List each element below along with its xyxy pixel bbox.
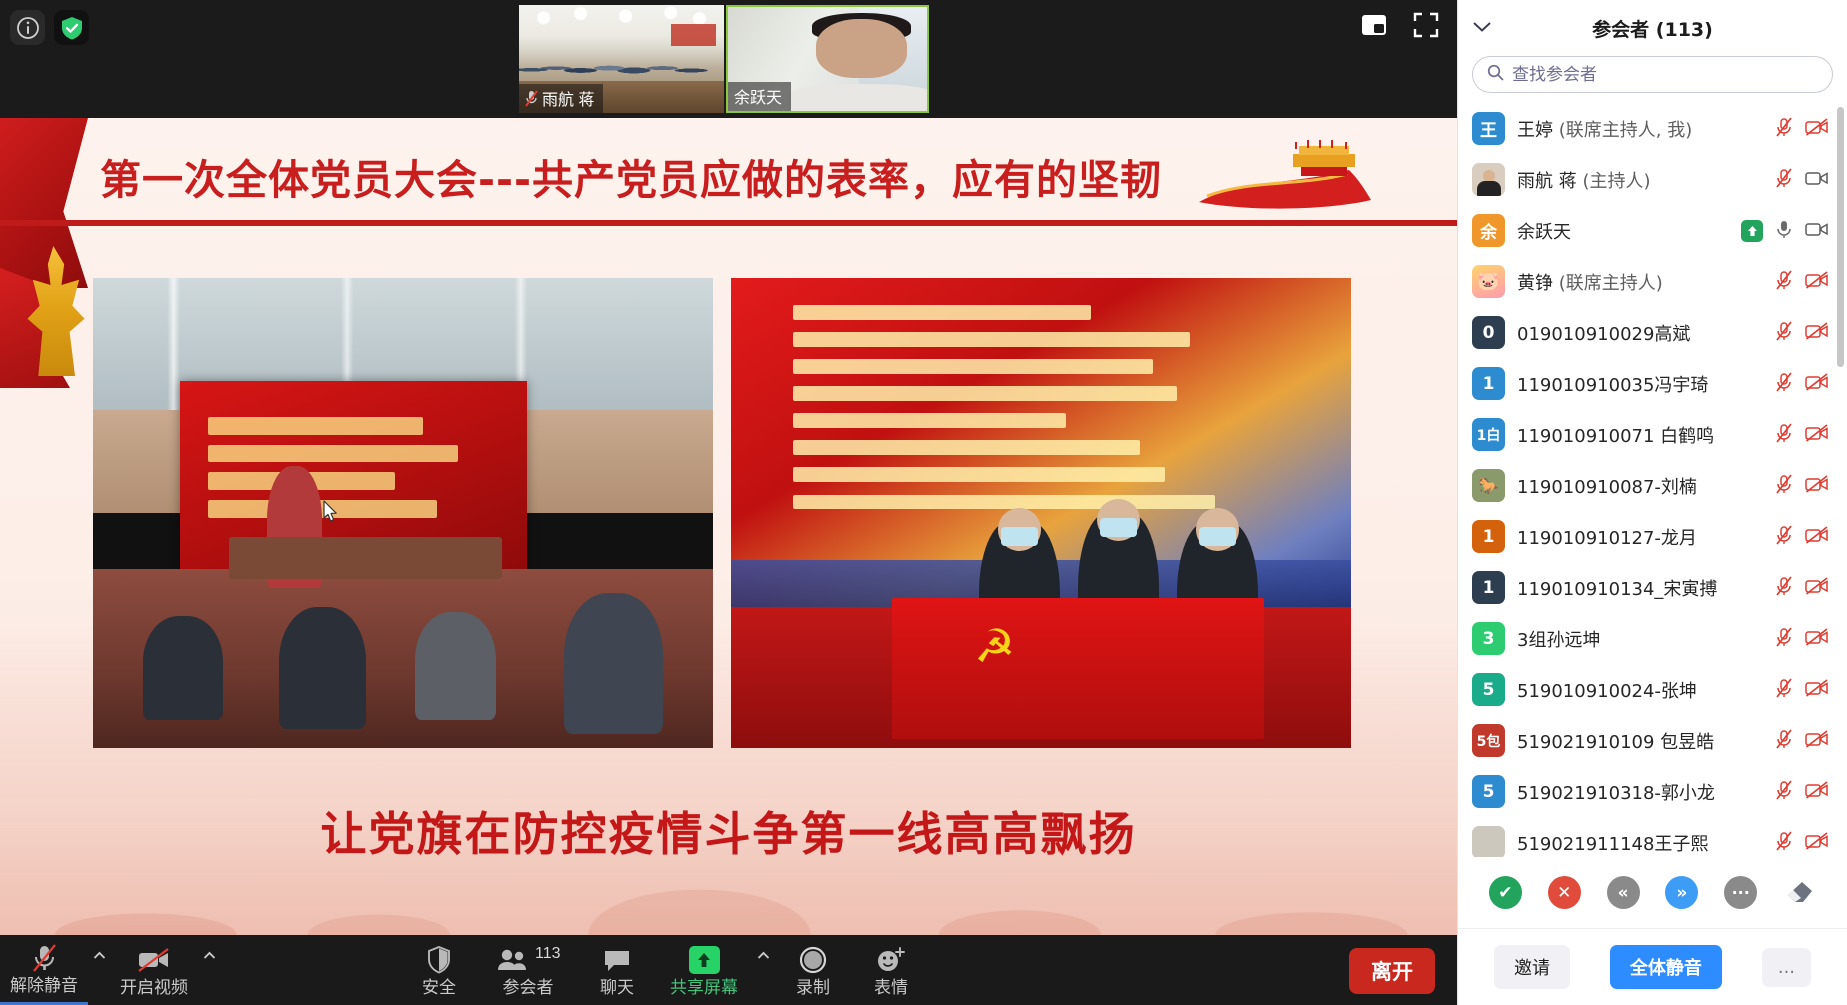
participant-row[interactable]: 雨航 蒋 (主持人) (1458, 154, 1847, 205)
meeting-area: 雨航 蒋 余跃天 (0, 0, 1457, 1005)
participant-avatar: 0 (1472, 316, 1505, 349)
participant-mic-icon[interactable] (1774, 779, 1794, 805)
mic-muted-icon (525, 90, 538, 107)
thumbnail-name-label: 雨航 蒋 (519, 84, 603, 113)
participant-avatar: 余 (1472, 214, 1505, 247)
mic-muted-icon (1774, 167, 1794, 189)
camera-muted-icon (1805, 474, 1829, 494)
participant-camera-icon[interactable] (1805, 525, 1829, 549)
toolbar-start-video-button[interactable]: 开启视频 (110, 935, 198, 1005)
search-box[interactable] (1472, 56, 1833, 93)
more-reactions-icon[interactable]: ··· (1724, 876, 1757, 909)
share-up-arrow-icon (689, 945, 720, 975)
tiananmen-ornament-icon (1189, 140, 1379, 220)
mute-all-button[interactable]: 全体静音 (1610, 945, 1722, 989)
photo-attendee (564, 593, 663, 734)
toolbar-security-button[interactable]: 安全 (400, 935, 478, 1005)
yes-check-icon[interactable]: ✔ (1489, 876, 1522, 909)
participant-camera-icon[interactable] (1805, 780, 1829, 804)
participant-name: 王婷 (联席主持人, 我) (1517, 116, 1762, 142)
zoom-meeting-window: 雨航 蒋 余跃天 (0, 0, 1847, 1005)
title-divider (0, 220, 1457, 226)
mic-muted-icon (1774, 575, 1794, 597)
toolbar-unmute-button[interactable]: 解除静音 (0, 935, 88, 1005)
participant-row[interactable]: 519021911148王子熙 (1458, 817, 1847, 857)
participant-avatar: 1 (1472, 367, 1505, 400)
slide-title: 第一次全体党员大会---共产党员应做的表率，应有的坚韧 (100, 146, 1210, 206)
video-thumbnail-active-speaker[interactable]: 余跃天 (726, 5, 929, 113)
participant-mic-icon[interactable] (1774, 320, 1794, 346)
participant-status-icons (1774, 269, 1829, 295)
party-flag (892, 598, 1264, 739)
participant-name: 019010910029高斌 (1517, 320, 1762, 346)
mic-muted-icon (1774, 779, 1794, 801)
participant-row[interactable]: 余余跃天 (1458, 205, 1847, 256)
photo-attendee (415, 612, 496, 720)
thumbnail-name-label: 余跃天 (728, 82, 791, 111)
participant-avatar: 1 (1472, 571, 1505, 604)
participant-status-icons (1774, 371, 1829, 397)
camera-muted-icon (1805, 525, 1829, 545)
photo-face-mask (1100, 518, 1137, 537)
participant-mic-icon[interactable] (1774, 626, 1794, 652)
search-icon (1487, 64, 1504, 85)
participant-camera-icon[interactable] (1805, 576, 1829, 600)
participant-mic-icon[interactable] (1774, 830, 1794, 856)
participant-avatar: 5 (1472, 673, 1505, 706)
speaker-shirt (788, 84, 929, 111)
shield-icon (427, 945, 451, 975)
participant-camera-icon[interactable] (1805, 729, 1829, 753)
video-thumbnail-strip: 雨航 蒋 余跃天 (0, 0, 1457, 118)
meeting-toolbar: 解除静音 开启视频 (0, 935, 1457, 1005)
speaker-head (816, 19, 908, 77)
record-circle-icon (799, 945, 827, 975)
participant-avatar (1472, 163, 1505, 196)
participant-row[interactable]: 0019010910029高斌 (1458, 307, 1847, 358)
mic-muted-icon (1774, 626, 1794, 648)
mic-muted-icon (1774, 830, 1794, 852)
share-options-caret-icon[interactable] (752, 935, 774, 1005)
camera-muted-icon (1805, 576, 1829, 596)
participant-name: 雨航 蒋 (主持人) (1517, 167, 1762, 193)
participant-camera-icon[interactable] (1805, 270, 1829, 294)
participant-status-icons (1774, 524, 1829, 550)
participant-mic-icon[interactable] (1774, 422, 1794, 448)
toolbar-label: 开启视频 (120, 979, 188, 996)
participants-scrollbar[interactable] (1837, 107, 1844, 367)
participant-mic-icon[interactable] (1774, 167, 1794, 193)
mic-muted-icon (1774, 422, 1794, 444)
participant-mic-icon[interactable] (1774, 371, 1794, 397)
slide-caption: 让党旗在防控疫情斗争第一线高高飘扬 (0, 798, 1457, 864)
participant-camera-icon[interactable] (1805, 372, 1829, 396)
participant-status-icons (1774, 575, 1829, 601)
toolbar-label: 共享屏幕 (670, 979, 738, 996)
participant-mic-icon[interactable] (1774, 728, 1794, 754)
participant-row[interactable]: 1119010910134_宋寅搏 (1458, 562, 1847, 613)
camera-muted-icon (137, 945, 171, 975)
participant-name: 119010910087-刘楠 (1517, 473, 1762, 499)
slide-photo-left (93, 278, 713, 748)
invite-button[interactable]: 邀请 (1494, 945, 1570, 989)
mic-muted-icon (1774, 524, 1794, 546)
participant-status-icons (1774, 677, 1829, 703)
participant-avatar (1472, 826, 1505, 857)
slow-down-icon[interactable]: « (1607, 876, 1640, 909)
participant-status-icons (1774, 626, 1829, 652)
participant-row[interactable]: 黄铮 (联席主持人) (1458, 256, 1847, 307)
participant-count: 113 (535, 945, 561, 963)
video-options-caret-icon[interactable] (198, 935, 220, 1005)
fullscreen-icon[interactable] (1411, 10, 1441, 40)
participant-status-icons (1774, 728, 1829, 754)
camera-muted-icon (1805, 372, 1829, 392)
participant-row[interactable]: 5519021910318-郭小龙 (1458, 766, 1847, 817)
toolbar-reactions-button[interactable]: 表情 (852, 935, 930, 1005)
participant-row[interactable]: 1119010910127-龙月 (1458, 511, 1847, 562)
participant-mic-icon[interactable] (1774, 524, 1794, 550)
toolbar-label: 安全 (422, 979, 456, 996)
participant-status-icons (1774, 830, 1829, 856)
participant-name: 余跃天 (1517, 218, 1729, 244)
photo-attendee (143, 616, 224, 719)
participant-status-icons (1774, 116, 1829, 142)
participants-panel: 参会者 (113) 王王婷 (联席主持人, 我) 雨航 蒋 (主持人) 余余跃天… (1457, 0, 1847, 1005)
mic-muted-icon (1774, 269, 1794, 291)
camera-muted-icon (1805, 729, 1829, 749)
mouse-cursor (318, 498, 342, 526)
participants-panel-title: 参会者 (113) (1592, 15, 1713, 42)
people-icon: 113 (497, 945, 559, 975)
chat-bubble-icon (603, 945, 631, 975)
audio-options-caret-icon[interactable] (88, 935, 110, 1005)
participant-avatar: 3 (1472, 622, 1505, 655)
participant-avatar: 1白 (1472, 418, 1505, 451)
search-input[interactable] (1512, 65, 1818, 85)
participant-status-icons (1774, 422, 1829, 448)
info-icon[interactable] (10, 10, 45, 45)
participant-mic-icon[interactable] (1774, 575, 1794, 601)
toolbar-label: 聊天 (600, 979, 634, 996)
emoji-plus-icon (876, 945, 906, 975)
participant-mic-icon[interactable] (1774, 116, 1794, 142)
toolbar-chat-button[interactable]: 聊天 (578, 935, 656, 1005)
camera-muted-icon (1805, 423, 1829, 443)
camera-on-icon (1805, 219, 1829, 239)
participant-row[interactable]: 5包519021910109 包昱皓 (1458, 715, 1847, 766)
toolbar-label: 表情 (874, 979, 908, 996)
nonverbal-feedback-bar: ✔✕«»··· (1458, 857, 1847, 929)
camera-on-icon (1805, 168, 1829, 188)
toolbar-participants-button[interactable]: 113 参会者 (478, 935, 578, 1005)
mic-muted-icon (1774, 728, 1794, 750)
participant-row[interactable]: 1白119010910071 白鹤鸣 (1458, 409, 1847, 460)
video-thumbnail-host[interactable]: 雨航 蒋 (519, 5, 724, 113)
photo-face-mask (1199, 527, 1236, 546)
photo-attendee (279, 607, 366, 729)
participant-name: 119010910071 白鹤鸣 (1517, 422, 1762, 448)
participants-search-wrap (1458, 56, 1847, 103)
participant-camera-icon[interactable] (1805, 219, 1829, 243)
participant-camera-icon[interactable] (1805, 627, 1829, 651)
speed-up-icon[interactable]: » (1665, 876, 1698, 909)
shield-check-icon[interactable] (54, 10, 89, 45)
camera-muted-icon (1805, 678, 1829, 698)
participant-camera-icon[interactable] (1805, 168, 1829, 192)
participants-panel-header: 参会者 (113) (1458, 0, 1847, 56)
photo-face-mask (1001, 527, 1038, 546)
camera-muted-icon (1805, 270, 1829, 290)
toolbar-share-screen-button[interactable]: 共享屏幕 (656, 935, 752, 1005)
participant-avatar: 1 (1472, 520, 1505, 553)
participant-name: 519021911148王子熙 (1517, 830, 1762, 856)
participant-camera-icon[interactable] (1805, 474, 1829, 498)
participant-row[interactable]: 1119010910035冯宇琦 (1458, 358, 1847, 409)
mic-muted-icon (31, 943, 57, 973)
participant-avatar: 5包 (1472, 724, 1505, 757)
picture-in-picture-icon[interactable] (1359, 10, 1389, 40)
participant-mic-icon[interactable] (1774, 677, 1794, 703)
participant-camera-icon[interactable] (1805, 423, 1829, 447)
participant-camera-icon[interactable] (1805, 117, 1829, 141)
participant-status-icons (1741, 218, 1829, 244)
participant-name: 519021910318-郭小龙 (1517, 779, 1762, 805)
toolbar-label: 录制 (796, 979, 830, 996)
participant-row[interactable]: 5519010910024-张坤 (1458, 664, 1847, 715)
leave-meeting-button[interactable]: 离开 (1349, 948, 1435, 994)
no-cross-icon[interactable]: ✕ (1548, 876, 1581, 909)
participant-name: 119010910127-龙月 (1517, 524, 1762, 550)
participant-camera-icon[interactable] (1805, 678, 1829, 702)
mic-muted-icon (1774, 116, 1794, 138)
participant-avatar: 王 (1472, 112, 1505, 145)
participants-action-bar: 邀请 全体静音 ... (1458, 929, 1847, 1005)
participant-status-icons (1774, 167, 1829, 193)
participant-status-icons (1774, 320, 1829, 346)
participant-mic-icon[interactable] (1774, 218, 1794, 244)
participant-avatar (1472, 265, 1505, 298)
participant-camera-icon[interactable] (1805, 831, 1829, 855)
participant-name: 519021910109 包昱皓 (1517, 728, 1762, 754)
participant-camera-icon[interactable] (1805, 321, 1829, 345)
participant-status-icons (1774, 473, 1829, 499)
room-banner (671, 24, 716, 46)
participant-row[interactable]: 119010910087-刘楠 (1458, 460, 1847, 511)
participants-list[interactable]: 王王婷 (联席主持人, 我) 雨航 蒋 (主持人) 余余跃天 黄铮 (联席主持人… (1458, 103, 1847, 857)
toolbar-label: 参会者 (503, 979, 554, 996)
camera-muted-icon (1805, 321, 1829, 341)
room-people (519, 50, 724, 82)
more-options-button[interactable]: ... (1762, 948, 1811, 987)
camera-muted-icon (1805, 831, 1829, 851)
participants-list-inner: 王王婷 (联席主持人, 我) 雨航 蒋 (主持人) 余余跃天 黄铮 (联席主持人… (1458, 103, 1847, 857)
slide-photo-right (731, 278, 1351, 748)
participant-name: 119010910035冯宇琦 (1517, 371, 1762, 397)
participant-name: 519010910024-张坤 (1517, 677, 1762, 703)
participant-name: 黄铮 (联席主持人) (1517, 269, 1762, 295)
camera-muted-icon (1805, 627, 1829, 647)
participant-avatar: 5 (1472, 775, 1505, 808)
window-controls (1359, 10, 1441, 40)
chevron-down-icon[interactable] (1472, 18, 1492, 37)
mic-muted-icon (1774, 473, 1794, 495)
mic-muted-icon (1774, 320, 1794, 342)
mic-muted-icon (1774, 677, 1794, 699)
participant-mic-icon[interactable] (1774, 473, 1794, 499)
participant-name: 119010910134_宋寅搏 (1517, 575, 1762, 601)
participant-name: 3组孙远坤 (1517, 626, 1762, 652)
raise-hand-icon[interactable] (1741, 220, 1763, 242)
toolbar-label: 解除静音 (10, 977, 78, 994)
photo-desk (229, 537, 502, 579)
participant-row[interactable]: 33组孙远坤 (1458, 613, 1847, 664)
mic-muted-icon (1774, 371, 1794, 393)
camera-muted-icon (1805, 117, 1829, 137)
thumbnail-name-text: 余跃天 (734, 84, 782, 108)
participant-mic-icon[interactable] (1774, 269, 1794, 295)
shared-screen-slide: 第一次全体党员大会---共产党员应做的表率，应有的坚韧 (0, 118, 1457, 935)
clear-all-icon[interactable] (1783, 876, 1816, 909)
meeting-badges (10, 10, 89, 45)
participant-status-icons (1774, 779, 1829, 805)
toolbar-record-button[interactable]: 录制 (774, 935, 852, 1005)
participant-avatar (1472, 469, 1505, 502)
mic-on-icon (1774, 218, 1794, 240)
camera-muted-icon (1805, 780, 1829, 800)
participant-row[interactable]: 王王婷 (联席主持人, 我) (1458, 103, 1847, 154)
thumbnail-name-text: 雨航 蒋 (542, 86, 594, 110)
